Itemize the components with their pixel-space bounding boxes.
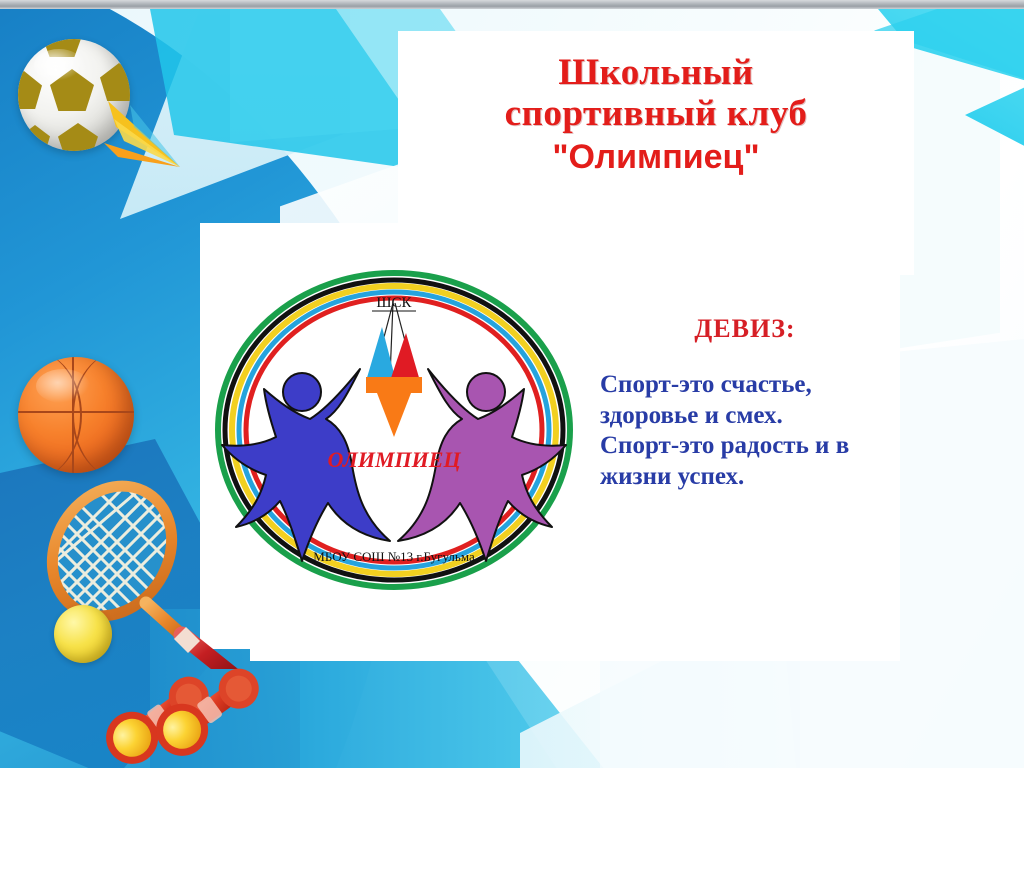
page-white-area [0,768,1024,890]
motto-line: здоровье и смех. [600,401,930,432]
motto-line: жизни успех. [600,462,930,493]
content-panel-lower [250,645,900,661]
soccer-ball-highlight [34,49,84,81]
title-line-1: Школьный [398,53,914,92]
title-line-2: спортивный клуб [398,94,914,133]
slide-title: Школьный спортивный клуб "Олимпиец" [398,53,914,175]
title-line-3: "Олимпиец" [398,139,914,175]
motto-line: Спорт-это счастье, [600,370,930,401]
window-top-bar [0,0,1024,9]
motion-trail-icon [104,97,182,169]
basketball-highlight [36,369,90,403]
emblem-torch-bar [366,377,422,393]
basketball-icon [18,357,134,473]
emblem-center-label: ОЛИМПИЕЦ [327,447,461,472]
motto-line: Спорт-это радость и в [600,431,930,462]
motto-text: Спорт-это счастье, здоровье и смех. Спор… [600,370,930,492]
emblem-bottom-label: МБОУ СОШ №13 г.Бугульма [313,549,475,564]
presentation-slide: Школьный спортивный клуб "Олимпиец" [0,9,1024,768]
soccer-pentagon-bottom [58,123,98,151]
club-emblem: ШСК ОЛИМПИЕЦ МБОУ СОШ №13 г.Бугульма [214,269,574,591]
slide-page: Школьный спортивный клуб "Олимпиец" [0,0,1024,890]
motto-block: ДЕВИЗ: Спорт-это счастье, здоровье и сме… [600,314,930,492]
dumbbells-icon [96,649,266,768]
emblem-top-label: ШСК [376,295,412,311]
soccer-pentagon-right [100,63,130,101]
soccer-pentagon-left [18,71,42,109]
motto-heading: ДЕВИЗ: [560,314,930,344]
